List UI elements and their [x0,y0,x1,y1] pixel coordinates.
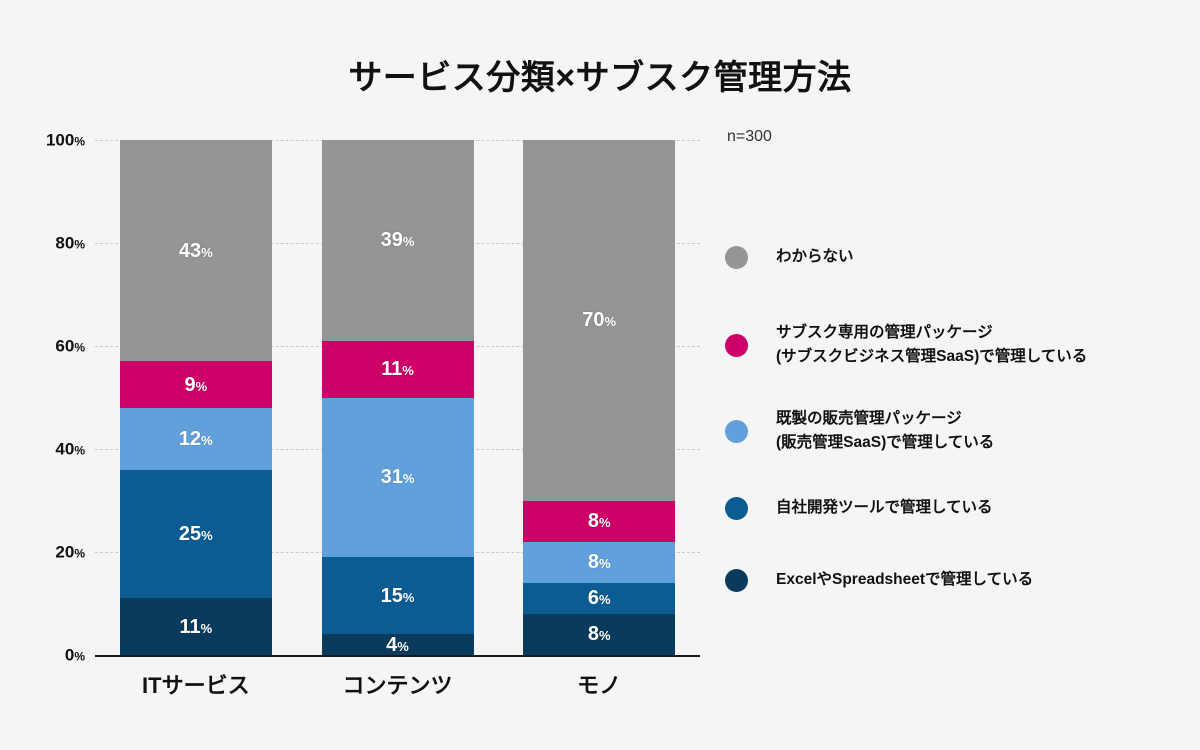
bar-segment-suffix: % [599,592,611,607]
legend-label: わからない [776,245,854,269]
bar-segment-suffix: % [201,245,213,260]
legend-item[interactable]: 自社開発ツールで管理している [725,489,1185,527]
y-tick-suffix: % [74,135,85,149]
bar-segment-suffix: % [403,471,415,486]
bar-segment[interactable]: 6% [523,583,675,614]
bar-segment[interactable]: 15% [322,557,474,634]
y-axis-tick-label: 40% [55,441,85,458]
sample-size-annotation: n=300 [727,128,772,146]
bar-segment-label: 25% [179,524,213,544]
legend-label-line1: サブスク専用の管理パッケージ [776,324,993,341]
legend-label: サブスク専用の管理パッケージ(サブスクビジネス管理SaaS)で管理している [776,321,1087,369]
bar-segment[interactable]: 11% [120,598,272,655]
x-axis: ITサービスコンテンツモノ [95,660,700,710]
y-tick-suffix: % [74,444,85,458]
bar-segment[interactable]: 70% [523,140,675,501]
plot-area: 11%25%12%9%43%4%15%31%11%39%8%6%8%8%70% [95,140,700,655]
bar-segment-label: 9% [184,375,207,395]
bar-segment-label: 39% [381,230,415,250]
legend-swatch-circle-icon [725,334,748,357]
legend-swatch-circle-icon [725,246,748,269]
legend-label: 自社開発ツールで管理している [776,496,993,520]
legend-label: ExcelやSpreadsheetで管理している [776,568,1033,592]
bar-segment-suffix: % [403,234,415,249]
y-axis-tick-label: 80% [55,235,85,252]
y-tick-suffix: % [74,238,85,252]
bar-segment-label: 4% [386,635,409,655]
bar-segment-value: 25 [179,523,201,545]
bar-segment-suffix: % [201,528,213,543]
bar-segment-label: 8% [588,552,611,572]
bar-segment-suffix: % [599,556,611,571]
legend-label: 既製の販売管理パッケージ(販売管理SaaS)で管理している [776,407,994,455]
legend-swatch-circle-icon [725,497,748,520]
bar-segment[interactable]: 39% [322,140,474,341]
legend-label-line1: わからない [776,248,854,265]
chart-root: サービス分類×サブスク管理方法 n=300 0%20%40%60%80%100%… [0,0,1200,750]
bar-segment-value: 8 [588,551,599,573]
bar-segment-label: 15% [381,586,415,606]
y-axis: 0%20%40%60%80%100% [0,140,95,655]
bar-segment[interactable]: 8% [523,501,675,542]
y-tick-value: 100 [46,131,74,150]
x-axis-tick-label: コンテンツ [342,668,452,700]
bar-segment[interactable]: 31% [322,398,474,558]
x-axis-tick-label: ITサービス [142,668,250,700]
bar-segment-value: 6 [588,587,599,609]
bar-segment-value: 8 [588,510,599,532]
bar-segment-suffix: % [201,433,213,448]
y-tick-suffix: % [74,650,85,664]
y-axis-tick-label: 60% [55,338,85,355]
legend-item[interactable]: サブスク専用の管理パッケージ(サブスクビジネス管理SaaS)で管理している [725,321,1185,369]
bar-segment[interactable]: 9% [120,361,272,407]
legend-swatch-circle-icon [725,569,748,592]
bar-series-container: 11%25%12%9%43%4%15%31%11%39%8%6%8%8%70% [95,140,700,655]
x-axis-tick-label: モノ [577,668,621,700]
y-tick-value: 60 [55,337,74,356]
legend-label-line1: ExcelやSpreadsheetで管理している [776,571,1033,588]
bar-group[interactable]: 8%6%8%8%70% [523,140,675,655]
bar-segment[interactable]: 8% [523,542,675,583]
legend-label-line1: 既製の販売管理パッケージ [776,410,962,427]
bar-segment-suffix: % [599,628,611,643]
bar-segment-label: 8% [588,624,611,644]
bar-segment-label: 31% [381,467,415,487]
bar-segment[interactable]: 12% [120,408,272,470]
y-tick-value: 20 [55,543,74,562]
bar-segment-suffix: % [403,590,415,605]
bar-segment-value: 8 [588,623,599,645]
bar-segment-value: 9 [184,374,195,396]
legend-label-line1: 自社開発ツールで管理している [776,499,993,516]
bar-segment-value: 15 [381,585,403,607]
bar-segment[interactable]: 4% [322,634,474,655]
x-axis-baseline [95,655,700,657]
legend-swatch-circle-icon [725,420,748,443]
bar-segment-suffix: % [201,621,213,636]
y-tick-suffix: % [74,547,85,561]
legend-item[interactable]: 既製の販売管理パッケージ(販売管理SaaS)で管理している [725,407,1185,455]
bar-segment[interactable]: 11% [322,341,474,398]
y-axis-tick-label: 100% [46,132,85,149]
bar-segment-value: 31 [381,466,403,488]
bar-segment[interactable]: 43% [120,140,272,361]
y-tick-value: 80 [55,234,74,253]
bar-segment-suffix: % [605,314,617,329]
bar-segment[interactable]: 25% [120,470,272,599]
legend-item[interactable]: ExcelやSpreadsheetで管理している [725,561,1185,599]
bar-segment-label: 8% [588,511,611,531]
bar-segment-label: 43% [179,241,213,261]
bar-segment-suffix: % [397,639,409,654]
bar-segment-label: 11% [381,359,414,379]
bar-segment-value: 43 [179,240,201,262]
y-axis-tick-label: 0% [65,647,85,664]
legend-item[interactable]: わからない [725,238,1185,276]
bar-segment-label: 6% [588,588,611,608]
legend-label-line2: (サブスクビジネス管理SaaS)で管理している [776,345,1087,369]
y-tick-value: 40 [55,440,74,459]
bar-group[interactable]: 4%15%31%11%39% [322,140,474,655]
bar-segment-suffix: % [196,379,208,394]
bar-segment-value: 11 [381,358,402,380]
bar-segment-value: 70 [582,309,604,331]
bar-segment-suffix: % [402,363,414,378]
bar-segment-value: 12 [179,428,201,450]
bar-segment-value: 39 [381,229,403,251]
y-axis-tick-label: 20% [55,544,85,561]
legend-label-line2: (販売管理SaaS)で管理している [776,431,994,455]
bar-segment-label: 12% [179,429,213,449]
chart-legend: わからないサブスク専用の管理パッケージ(サブスクビジネス管理SaaS)で管理して… [725,238,1185,609]
bar-segment-value: 4 [386,634,397,655]
chart-title: サービス分類×サブスク管理方法 [0,50,1200,99]
y-tick-suffix: % [74,341,85,355]
bar-segment-label: 70% [582,310,616,330]
bar-segment-value: 11 [179,616,200,638]
bar-group[interactable]: 11%25%12%9%43% [120,140,272,655]
bar-segment-suffix: % [599,515,611,530]
bar-segment-label: 11% [179,617,212,637]
bar-segment[interactable]: 8% [523,614,675,655]
